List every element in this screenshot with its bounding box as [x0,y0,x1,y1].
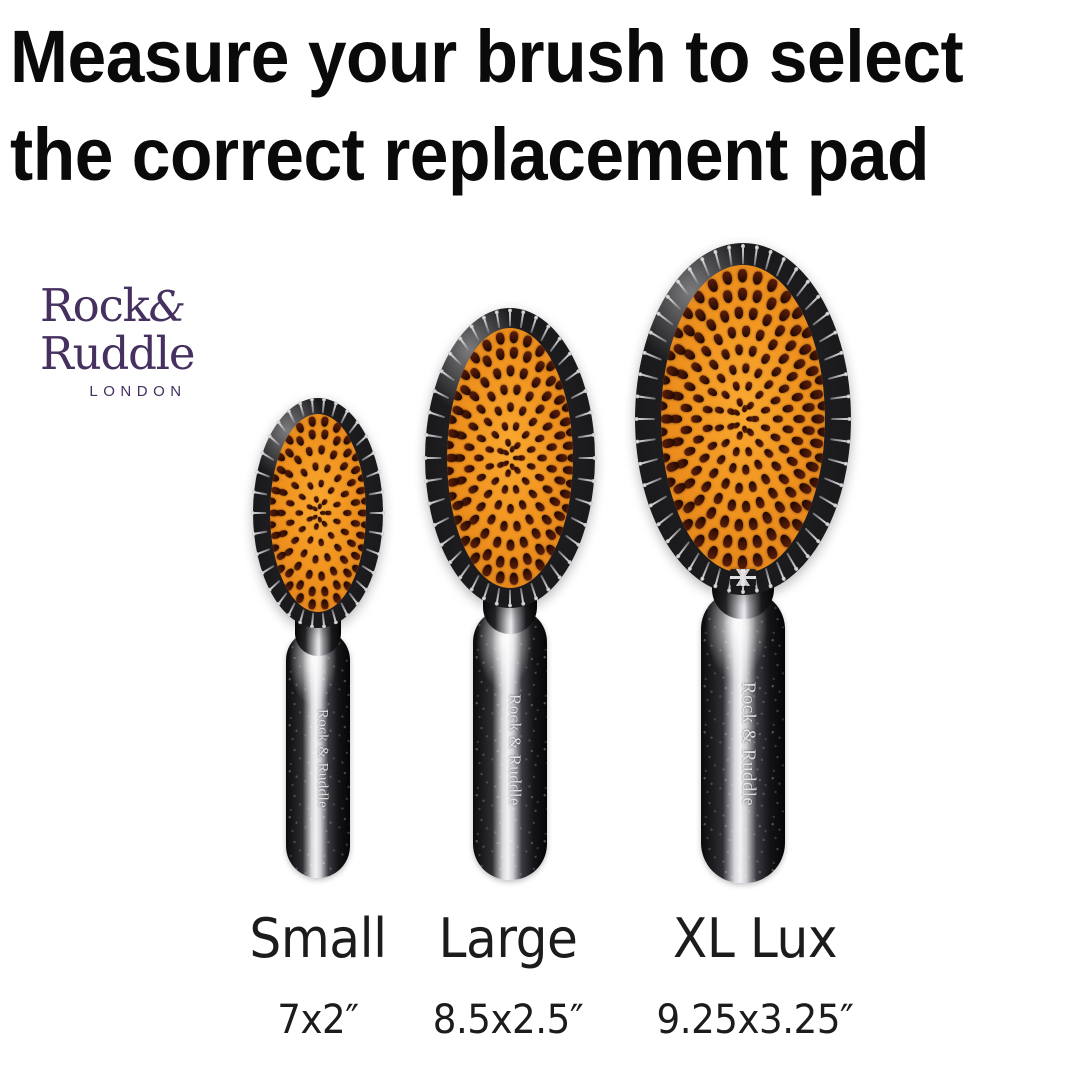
bristle-tufts-large [447,328,573,588]
brush-pad-small [270,414,366,612]
size-label-large: Large [415,912,601,966]
logo-word-rock: Rock [40,279,149,332]
brush-large: Rock & Ruddle [405,308,615,880]
bristle-tufts-xl [661,265,825,573]
handle-engraving-large: Rock & Ruddle [504,694,524,806]
bristle-tufts-small [270,414,366,612]
brush-head-large [425,308,595,608]
logo-line-2: Ruddle [40,330,230,378]
handle-engraving-small: Rock & Ruddle [313,709,330,808]
brush-handle-xl: Rock & Ruddle [701,591,785,883]
size-dimensions-xl: 9.25x3.25″ [639,1000,872,1040]
brush-pad-xl [661,265,825,573]
union-jack-badge [730,569,756,586]
size-dimensions-large: 8.5x2.5″ [415,1000,601,1040]
size-label-xl: XL Lux [648,912,862,966]
logo-subtitle: LONDON [40,383,230,400]
brush-head-small [253,398,383,628]
size-dimensions-small: 7x2″ [225,1000,411,1040]
handle-engraving-xl: Rock & Ruddle [736,682,758,806]
brush-pad-large [447,328,573,588]
brush-xl-lux: Rock & Ruddle [610,243,875,883]
brush-small: Rock & Ruddle [238,398,398,878]
brand-logo: Rock& Ruddle LONDON [40,282,230,400]
brush-handle-large: Rock & Ruddle [473,608,547,880]
ampersand-icon: & [149,282,185,331]
brush-head-xl [635,243,851,595]
page-title: Measure your brush to select the correct… [10,8,1006,203]
brush-handle-small: Rock & Ruddle [286,630,350,878]
size-label-small: Small [225,912,411,966]
logo-line-1: Rock& [40,282,230,330]
poster-canvas: Measure your brush to select the correct… [0,0,1080,1080]
